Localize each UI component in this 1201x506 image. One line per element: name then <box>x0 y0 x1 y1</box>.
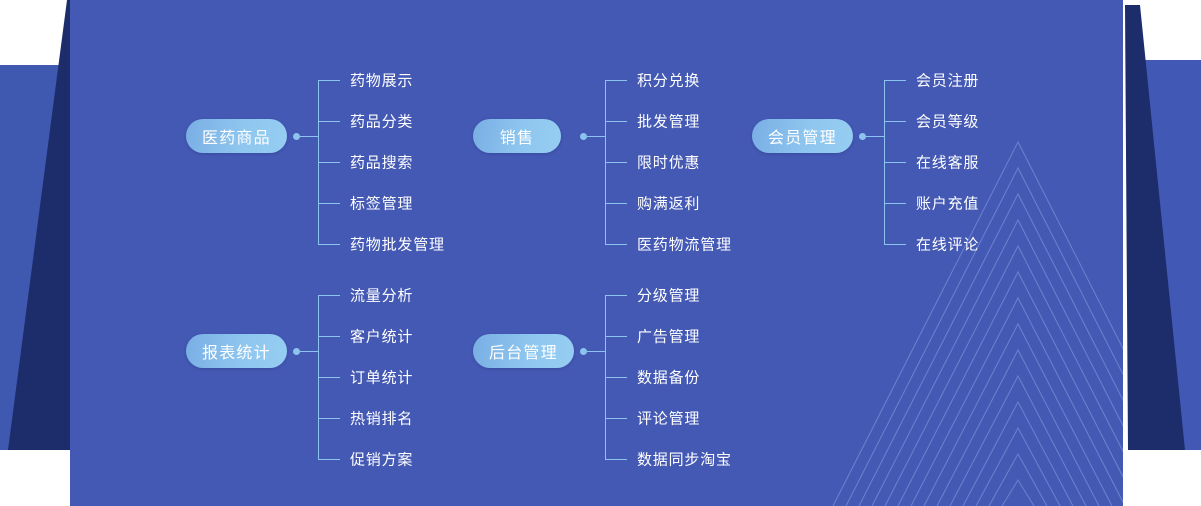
leaf-label[interactable]: 评论管理 <box>637 412 700 427</box>
node-label: 医药商品 <box>202 124 271 148</box>
right-band <box>1140 60 1201 450</box>
connector-stub <box>866 136 884 137</box>
branch-line <box>605 203 627 204</box>
branch-line <box>605 295 627 296</box>
node-connector-dot <box>580 133 587 140</box>
branch-line <box>605 244 627 245</box>
branch-line <box>318 203 340 204</box>
leaf-label[interactable]: 会员注册 <box>916 74 979 89</box>
branch-line <box>605 459 627 460</box>
chevron-decoration <box>833 142 1201 506</box>
node-member-management[interactable]: 会员管理 <box>752 119 853 153</box>
leaf-label[interactable]: 限时优惠 <box>637 156 700 171</box>
leaf-label[interactable]: 客户统计 <box>350 330 413 345</box>
leaf-label[interactable]: 在线客服 <box>916 156 979 171</box>
branch-line <box>884 80 906 81</box>
node-label: 销售 <box>500 124 534 148</box>
leaf-label[interactable]: 批发管理 <box>637 115 700 130</box>
leaf-label[interactable]: 促销方案 <box>350 453 413 468</box>
leaf-label[interactable]: 热销排名 <box>350 412 413 427</box>
leaf-label[interactable]: 数据同步淘宝 <box>637 453 732 468</box>
branch-line <box>605 121 627 122</box>
branch-line <box>605 377 627 378</box>
node-connector-dot <box>293 348 300 355</box>
branch-line <box>318 459 340 460</box>
branch-line <box>884 121 906 122</box>
node-connector-dot <box>859 133 866 140</box>
leaf-label[interactable]: 数据备份 <box>637 371 700 386</box>
node-label: 报表统计 <box>202 339 271 363</box>
branch-line <box>605 80 627 81</box>
node-report-statistics[interactable]: 报表统计 <box>186 334 287 368</box>
branch-line <box>605 162 627 163</box>
leaf-label[interactable]: 订单统计 <box>350 371 413 386</box>
node-connector-dot <box>293 133 300 140</box>
branch-line <box>318 162 340 163</box>
node-sales[interactable]: 销售 <box>473 119 561 153</box>
branch-line <box>605 418 627 419</box>
branch-line <box>318 121 340 122</box>
background-decoration <box>0 0 1201 506</box>
leaf-label[interactable]: 药物展示 <box>350 74 413 89</box>
node-label: 会员管理 <box>768 124 837 148</box>
leaf-label[interactable]: 药品分类 <box>350 115 413 130</box>
right-navy-wedge <box>1125 5 1185 450</box>
connector-stub <box>300 351 318 352</box>
connector-stub <box>300 136 318 137</box>
node-label: 后台管理 <box>489 339 558 363</box>
leaf-label[interactable]: 药物批发管理 <box>350 238 445 253</box>
branch-line <box>318 244 340 245</box>
leaf-label[interactable]: 在线评论 <box>916 238 979 253</box>
leaf-label[interactable]: 药品搜索 <box>350 156 413 171</box>
diagram-canvas: 医药商品 药物展示 药品分类 药品搜索 标签管理 药物批发管理 销售 积分兑换 … <box>0 0 1201 506</box>
leaf-label[interactable]: 会员等级 <box>916 115 979 130</box>
left-band <box>0 65 92 450</box>
branch-line <box>884 244 906 245</box>
leaf-label[interactable]: 广告管理 <box>637 330 700 345</box>
node-backend-management[interactable]: 后台管理 <box>473 334 574 368</box>
branch-line <box>318 418 340 419</box>
branch-line <box>318 336 340 337</box>
branch-line <box>884 162 906 163</box>
branch-line <box>318 80 340 81</box>
node-connector-dot <box>580 348 587 355</box>
leaf-label[interactable]: 医药物流管理 <box>637 238 732 253</box>
leaf-label[interactable]: 购满返利 <box>637 197 700 212</box>
leaf-label[interactable]: 标签管理 <box>350 197 413 212</box>
connector-stub <box>587 136 605 137</box>
branch-line <box>318 295 340 296</box>
branch-line <box>884 203 906 204</box>
leaf-label[interactable]: 账户充值 <box>916 197 979 212</box>
branch-line <box>318 377 340 378</box>
connector-stub <box>587 351 605 352</box>
node-medicine-products[interactable]: 医药商品 <box>186 119 287 153</box>
leaf-label[interactable]: 流量分析 <box>350 289 413 304</box>
leaf-label[interactable]: 分级管理 <box>637 289 700 304</box>
leaf-label[interactable]: 积分兑换 <box>637 74 700 89</box>
branch-line <box>605 336 627 337</box>
left-navy-wedge <box>8 0 92 450</box>
